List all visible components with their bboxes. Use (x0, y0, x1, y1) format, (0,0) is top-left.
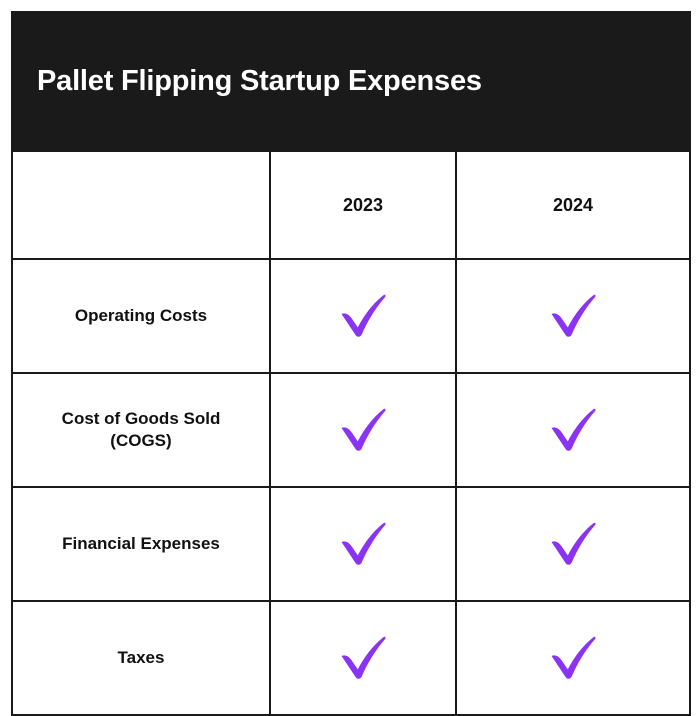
expense-table: Pallet Flipping Startup Expenses 2023 20… (11, 11, 691, 716)
cell-financial-expenses-2023 (270, 487, 456, 601)
table-body: Operating Costs (12, 259, 690, 715)
check-icon (334, 285, 392, 343)
table-row: Operating Costs (12, 259, 690, 373)
check-icon (544, 627, 602, 685)
row-label-line-1: Financial Expenses (62, 534, 220, 553)
check-icon (334, 627, 392, 685)
row-label-line-1: Operating Costs (75, 306, 207, 325)
row-label-taxes: Taxes (12, 601, 270, 715)
page-title: Pallet Flipping Startup Expenses (37, 65, 482, 97)
cell-taxes-2024 (456, 601, 690, 715)
table-head: Pallet Flipping Startup Expenses 2023 20… (12, 12, 690, 259)
cell-financial-expenses-2024 (456, 487, 690, 601)
cell-operating-costs-2023 (270, 259, 456, 373)
column-header-row: 2023 2024 (12, 151, 690, 259)
check-icon (544, 399, 602, 457)
row-label-operating-costs: Operating Costs (12, 259, 270, 373)
cell-operating-costs-2024 (456, 259, 690, 373)
check-icon (334, 399, 392, 457)
row-label-financial-expenses: Financial Expenses (12, 487, 270, 601)
expense-table-container: Pallet Flipping Startup Expenses 2023 20… (11, 11, 689, 689)
title-banner-cell: Pallet Flipping Startup Expenses (12, 12, 690, 151)
check-icon (544, 513, 602, 571)
table-row: Taxes (12, 601, 690, 715)
row-label-line-1: Taxes (118, 648, 165, 667)
row-label-cost-of-goods-sold: Cost of Goods Sold (COGS) (12, 373, 270, 487)
cell-cost-of-goods-sold-2024 (456, 373, 690, 487)
table-row: Financial Expenses (12, 487, 690, 601)
row-label-line-2: (COGS) (110, 431, 171, 450)
title-banner-row: Pallet Flipping Startup Expenses (12, 12, 690, 151)
column-header-2024: 2024 (456, 151, 690, 259)
check-icon (334, 513, 392, 571)
check-icon (544, 285, 602, 343)
page-root: Pallet Flipping Startup Expenses 2023 20… (0, 0, 700, 700)
row-label-line-1: Cost of Goods Sold (62, 409, 221, 428)
cell-taxes-2023 (270, 601, 456, 715)
column-header-category (12, 151, 270, 259)
table-row: Cost of Goods Sold (COGS) (12, 373, 690, 487)
cell-cost-of-goods-sold-2023 (270, 373, 456, 487)
column-header-2023: 2023 (270, 151, 456, 259)
